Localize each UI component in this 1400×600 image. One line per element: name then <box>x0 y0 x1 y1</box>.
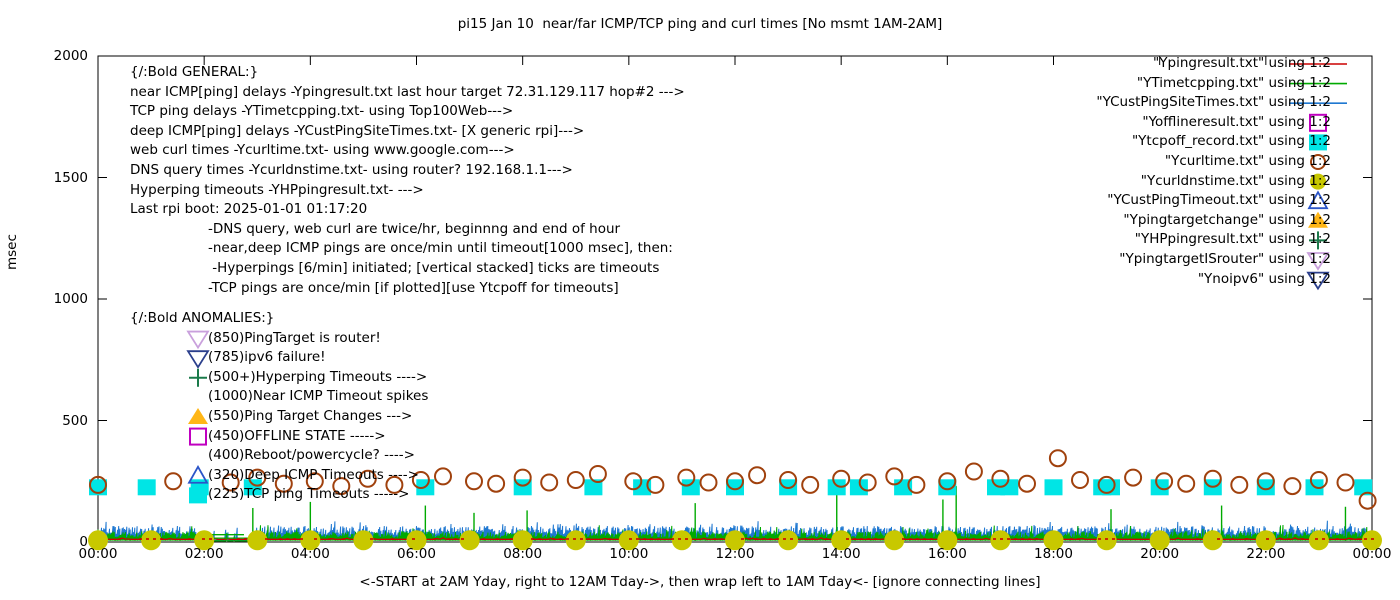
marker-circle-filled <box>778 530 798 550</box>
marker-circle-open <box>1338 475 1354 491</box>
x-tick-label: 00:00 <box>63 546 133 562</box>
legend-entry-label: "Ycurldnstime.txt" using 1:2 <box>1141 173 1331 189</box>
legend-entry-label: "Ypingresult.txt" using 1:2 <box>1153 55 1331 71</box>
x-tick-label: 12:00 <box>700 546 770 562</box>
legend-entry-label: "Ypingtargetchange" using 1:2 <box>1123 212 1331 228</box>
x-tick-label: 00:00 <box>1337 546 1400 562</box>
marker-circle-open <box>568 472 584 488</box>
marker-circle-open <box>435 468 451 484</box>
marker-circle-filled <box>141 530 161 550</box>
annotation-anomalies-heading: {/:Bold ANOMALIES:} <box>130 310 274 326</box>
marker-circle-open <box>165 473 181 489</box>
marker-circle-filled <box>353 530 373 550</box>
legend-marker-square-open <box>190 429 206 445</box>
marker-circle-open <box>466 473 482 489</box>
x-tick-label: 04:00 <box>275 546 345 562</box>
x-tick-label: 16:00 <box>912 546 982 562</box>
x-tick-label: 08:00 <box>488 546 558 562</box>
marker-circle-open <box>1284 478 1300 494</box>
x-tick-label: 06:00 <box>382 546 452 562</box>
marker-circle-open <box>1178 476 1194 492</box>
marker-circle-filled <box>884 530 904 550</box>
legend-entry-label: "YHPpingresult.txt" using 1:2 <box>1135 231 1331 247</box>
marker-circle-open <box>1125 470 1141 486</box>
marker-circle-filled <box>460 530 480 550</box>
marker-circle-filled <box>990 530 1010 550</box>
marker-circle-filled <box>672 530 692 550</box>
annotation-general-detail: -TCP pings are once/min [if plotted][use… <box>208 280 619 296</box>
marker-circle-filled <box>566 530 586 550</box>
legend-entry-label: "Ytcpoff_record.txt" using 1:2 <box>1132 133 1331 149</box>
marker-square-filled <box>138 479 156 495</box>
annotation-anomaly-line: (550)Ping Target Changes ---> <box>208 408 412 424</box>
annotation-anomaly-line: (500+)Hyperping Timeouts ----> <box>208 369 427 385</box>
marker-circle-open <box>1050 450 1066 466</box>
x-tick-label: 18:00 <box>1019 546 1089 562</box>
y-tick-label: 1500 <box>36 170 88 186</box>
marker-circle-open <box>1072 472 1088 488</box>
x-tick-label: 22:00 <box>1231 546 1301 562</box>
legend-marker-plus <box>189 369 207 387</box>
legend-entry-label: "Ycurltime.txt" using 1:2 <box>1165 153 1331 169</box>
y-tick-label: 500 <box>36 413 88 429</box>
annotation-general-line: near ICMP[ping] delays -Ypingresult.txt … <box>130 84 685 100</box>
marker-circle-open <box>1019 476 1035 492</box>
marker-circle-open <box>488 476 504 492</box>
annotation-anomaly-line: (1000)Near ICMP Timeout spikes <box>208 388 428 404</box>
annotation-general-line: web curl times -Ycurltime.txt- using www… <box>130 142 515 158</box>
x-tick-label: 20:00 <box>1125 546 1195 562</box>
legend-marker-square-filled <box>189 487 207 503</box>
x-tick-label: 10:00 <box>594 546 664 562</box>
marker-circle-open <box>1231 477 1247 493</box>
legend-marker-triangle-filled <box>188 408 208 424</box>
marker-circle-filled <box>1097 530 1117 550</box>
annotation-general-line: deep ICMP[ping] delays -YCustPingSiteTim… <box>130 123 584 139</box>
marker-circle-filled <box>247 530 267 550</box>
marker-square-filled <box>682 479 700 495</box>
annotation-general-line: TCP ping delays -YTimetcpping.txt- using… <box>130 103 513 119</box>
annotation-anomaly-line: (785)ipv6 failure! <box>208 349 326 365</box>
annotation-anomaly-line: (320)Deep ICMP Timeouts ----> <box>208 467 419 483</box>
x-tick-label: 14:00 <box>806 546 876 562</box>
legend-entry-label: "YpingtargetISrouter" using 1:2 <box>1119 251 1331 267</box>
marker-circle-filled <box>1309 530 1329 550</box>
annotation-anomaly-line: (225)TCP ping Timeouts -----> <box>208 486 410 502</box>
legend-entry-label: "YCustPingSiteTimes.txt" using 1:2 <box>1096 94 1331 110</box>
legend-entry-label: "YCustPingTimeout.txt" using 1:2 <box>1107 192 1331 208</box>
annotation-general-detail: -near,deep ICMP pings are once/min until… <box>208 240 673 256</box>
annotation-general-detail: -Hyperpings [6/min] initiated; [vertical… <box>208 260 659 276</box>
marker-circle-open <box>701 475 717 491</box>
annotation-general-line: DNS query times -Ycurldnstime.txt- using… <box>130 162 573 178</box>
marker-circle-open <box>749 467 765 483</box>
annotation-general-heading: {/:Bold GENERAL:} <box>130 64 258 80</box>
chart-root: pi15 Jan 10 near/far ICMP/TCP ping and c… <box>0 0 1400 600</box>
marker-circle-open <box>541 475 557 491</box>
legend-entry-label: "Ynoipv6" using 1:2 <box>1198 271 1331 287</box>
y-tick-label: 1000 <box>36 291 88 307</box>
annotation-general-detail: -DNS query, web curl are twice/hr, begin… <box>208 221 620 237</box>
marker-square-filled <box>1045 479 1063 495</box>
annotation-general-line: Hyperping timeouts -YHPpingresult.txt- -… <box>130 182 424 198</box>
annotation-anomaly-line: (400)Reboot/powercycle? ----> <box>208 447 415 463</box>
y-tick-label: 2000 <box>36 48 88 64</box>
legend-entry-label: "YTimetcpping.txt" using 1:2 <box>1137 75 1331 91</box>
annotation-general-line: Last rpi boot: 2025-01-01 01:17:20 <box>130 201 367 217</box>
x-tick-label: 02:00 <box>169 546 239 562</box>
x-axis-label: <-START at 2AM Yday, right to 12AM Tday-… <box>0 574 1400 590</box>
marker-circle-filled <box>1203 530 1223 550</box>
annotation-anomaly-line: (850)PingTarget is router! <box>208 330 381 346</box>
marker-circle-open <box>966 464 982 480</box>
legend-marker-inv-triangle-open <box>188 332 208 348</box>
legend-entry-label: "Yofflineresult.txt" using 1:2 <box>1142 114 1331 130</box>
annotation-anomaly-line: (450)OFFLINE STATE -----> <box>208 428 386 444</box>
legend-marker-inv-triangle-open <box>188 351 208 367</box>
marker-circle-open <box>802 477 818 493</box>
